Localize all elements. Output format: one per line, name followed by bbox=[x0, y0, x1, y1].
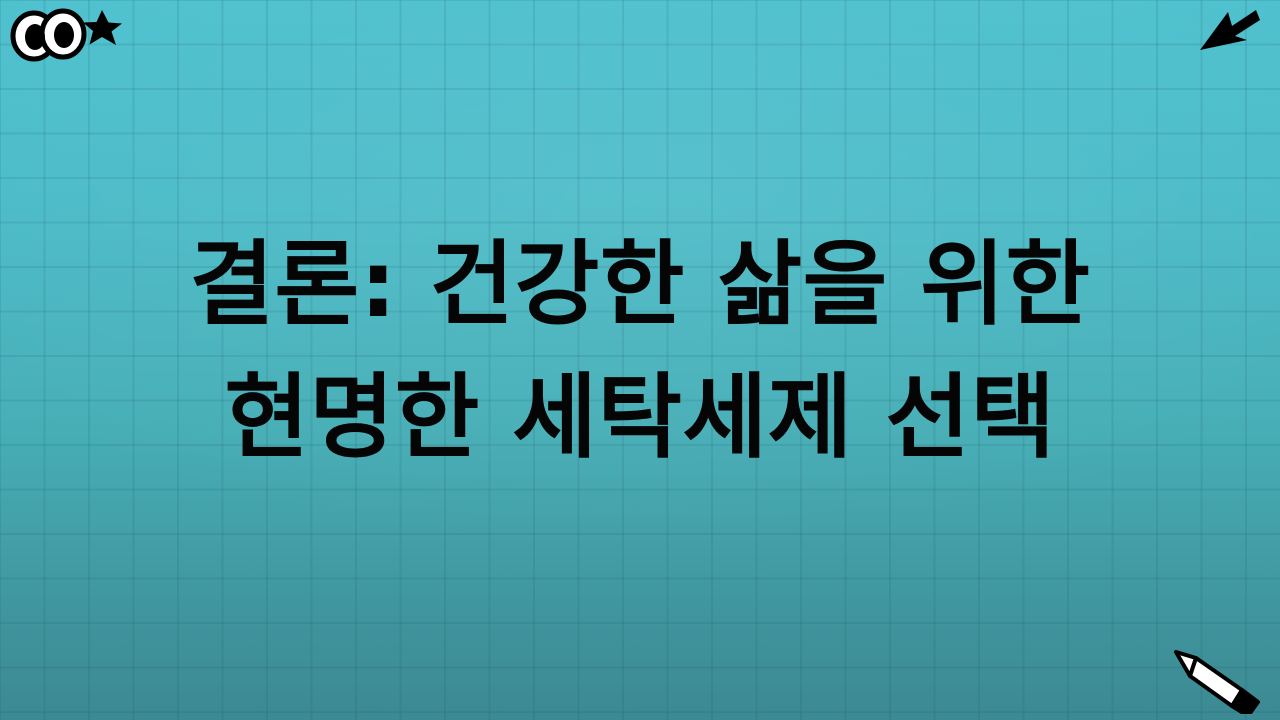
title-line-1: 결론: 건강한 삶을 위한 bbox=[64, 218, 1216, 351]
cursor-arrow-icon bbox=[1198, 6, 1260, 56]
title-line-2: 현명한 세탁세제 선택 bbox=[64, 351, 1216, 484]
pencil-icon bbox=[1170, 642, 1266, 714]
eyes-icon bbox=[10, 6, 88, 62]
slide-title: 결론: 건강한 삶을 위한 현명한 세탁세제 선택 bbox=[0, 218, 1280, 485]
star-icon bbox=[80, 6, 124, 50]
slide-canvas: 결론: 건강한 삶을 위한 현명한 세탁세제 선택 bbox=[0, 0, 1280, 720]
